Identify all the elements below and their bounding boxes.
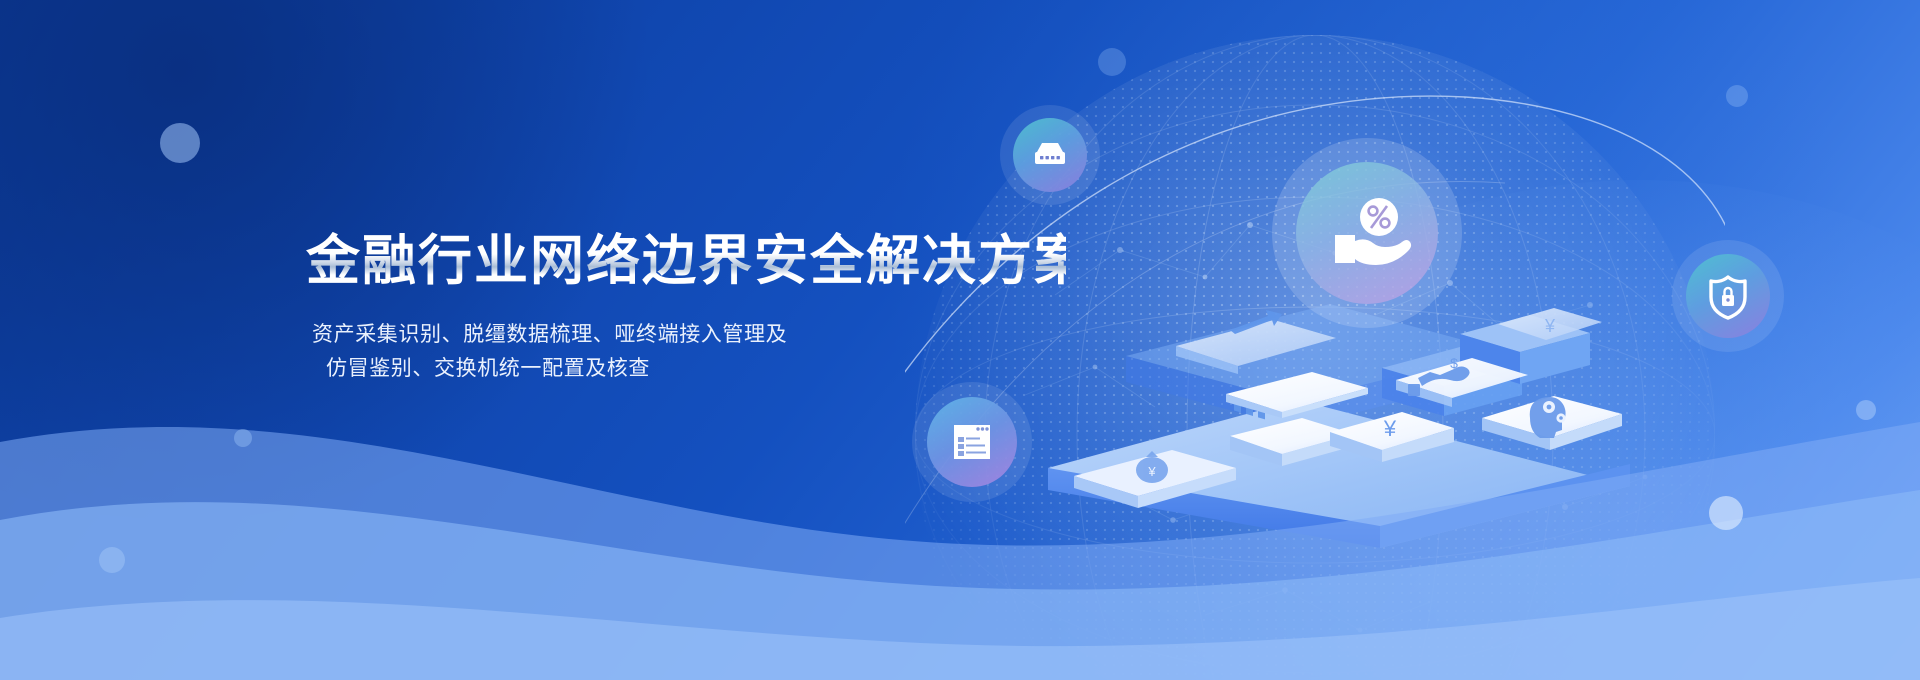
router-icon <box>1023 128 1077 182</box>
tile-yuan-raised: ¥ <box>1498 308 1602 340</box>
hand-dollar-icon: $ <box>1408 355 1470 396</box>
dot-left-upper <box>160 123 200 163</box>
platform-back-slab <box>1126 304 1500 428</box>
dot-left-lower <box>99 547 125 573</box>
svg-text:¥: ¥ <box>1147 464 1156 479</box>
badge-router <box>1000 105 1100 205</box>
subtitle-line-1: 资产采集识别、脱缰数据梳理、哑终端接入管理及 <box>312 318 1066 352</box>
document-checklist-icon <box>941 411 1003 473</box>
page-title: 金融行业网络边界安全解决方案 <box>306 232 1066 290</box>
shield-lock-icon <box>1699 267 1757 325</box>
wave-mid <box>0 490 1920 680</box>
dot-top-center <box>1098 48 1126 76</box>
yuan-block-icon: ¥ <box>1544 316 1556 336</box>
tile-blank-a <box>1226 372 1368 418</box>
hand-percent-icon <box>1313 179 1421 287</box>
badge-document <box>912 382 1032 502</box>
tile-yuan: ¥ <box>1330 412 1454 462</box>
badge-percent-hand <box>1272 138 1462 328</box>
svg-text:$: $ <box>1450 355 1458 371</box>
badge-shield-lock <box>1672 240 1784 352</box>
dot-left-mid <box>234 429 252 447</box>
money-bag-yuan-icon: ¥ <box>1136 451 1168 483</box>
hero-banner: ¥ <box>0 0 1920 680</box>
platform-base <box>1048 400 1630 548</box>
tile-ai-head <box>1482 396 1622 450</box>
dot-right-upper <box>1726 85 1748 107</box>
dot-right-mid <box>1709 496 1743 530</box>
platform-right-risers <box>1382 315 1590 416</box>
tile-hand-dollar: $ <box>1396 355 1528 407</box>
subtitle-line-2: 仿冒鉴别、交换机统一配置及核查 <box>312 352 1066 386</box>
tile-growth-chart <box>1176 310 1336 419</box>
background-glow-bottom-right <box>1150 180 1920 680</box>
hero-subtitle: 资产采集识别、脱缰数据梳理、哑终端接入管理及 仿冒鉴别、交换机统一配置及核查 <box>312 318 1066 386</box>
growth-chart-icon <box>1230 310 1282 419</box>
dot-right-low <box>1856 400 1876 420</box>
hero-text-block: 金融行业网络边界安全解决方案 资产采集识别、脱缰数据梳理、哑终端接入管理及 仿冒… <box>306 232 1066 386</box>
ai-head-gears-icon <box>1530 397 1566 438</box>
tile-money-bag: ¥ <box>1074 450 1236 508</box>
wave-front <box>0 578 1920 680</box>
yuan-symbol-icon: ¥ <box>1383 416 1397 441</box>
isometric-platform-illustration: ¥ <box>1030 290 1650 550</box>
tile-blank-b <box>1230 418 1354 466</box>
